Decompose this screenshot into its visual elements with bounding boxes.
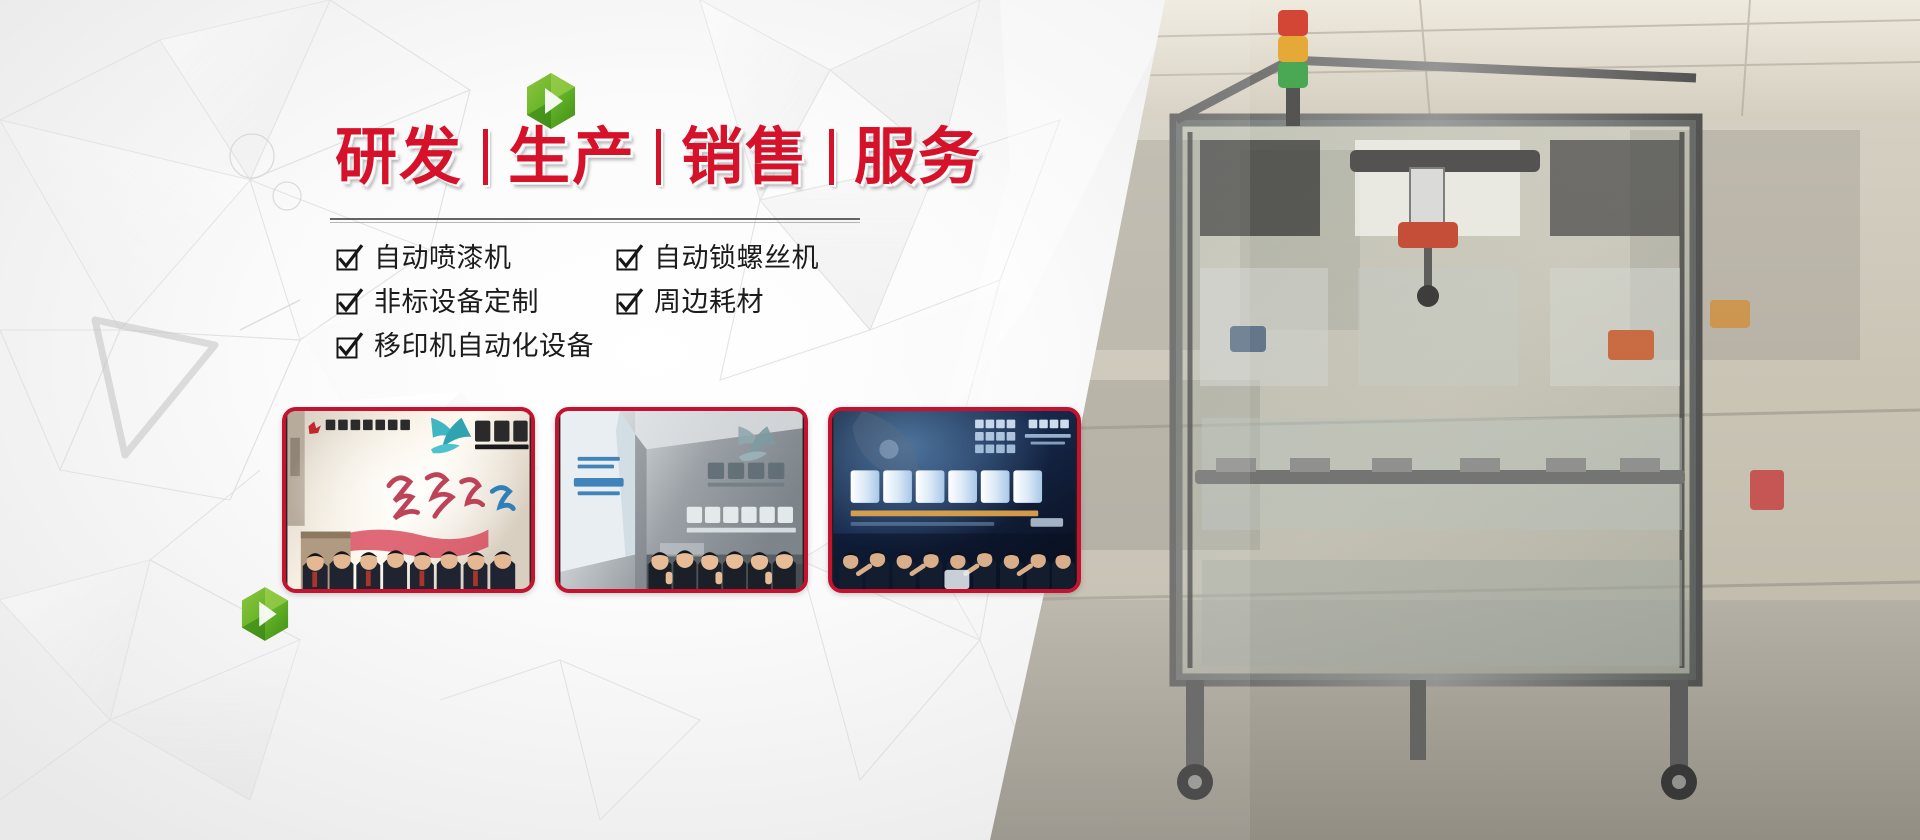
thumbnail-3-award: 国家高新技术企业 xyxy=(832,411,833,412)
thumbnail-2[interactable]: 德馨科技 汕头市德馨自动化科技有限公司 SHANTOU DEXIN AUTOMA… xyxy=(555,407,808,593)
headline: 研发 生产 销售 服务 xyxy=(326,126,991,188)
promo-banner: factory automation machine frame with st… xyxy=(0,0,1920,840)
thumbnail-3-headline-cn: 智能引领未来 xyxy=(832,411,833,412)
thumbnail-2-company-en: SHANTOU DEXIN AUTOMATION TECHNOLOGY CO.,… xyxy=(559,411,560,412)
headline-separator-2 xyxy=(656,129,661,185)
headline-word-2: 生产 xyxy=(499,126,645,188)
checkbox-checked-icon xyxy=(334,287,364,317)
feature-label: 自动锁螺丝机 xyxy=(654,245,819,272)
checkbox-checked-icon xyxy=(334,331,364,361)
checkbox-checked-icon xyxy=(614,243,644,273)
thumbnail-3-tags: 专业智造 · 智能制造 · 环保节能 xyxy=(832,411,833,412)
feature-list: 自动喷漆机 自动锁螺丝机 非标设备定制 xyxy=(334,236,894,368)
thumbnail-gallery: 國家高新技術企業 德馨科 DEXIN TECH 德馨缔造 xyxy=(282,407,1081,593)
feature-label: 非标设备定制 xyxy=(374,289,539,316)
headline-separator-1 xyxy=(483,129,488,185)
divider-line-primary xyxy=(330,218,860,220)
feature-item-5: 移印机自动化设备 xyxy=(334,324,894,368)
feature-label: 自动喷漆机 xyxy=(374,245,512,272)
thumbnail-2-brand-cn: 德馨科技 xyxy=(559,411,560,412)
feature-item-3: 非标设备定制 xyxy=(334,280,614,324)
thumbnail-1-brand-cn: 德馨科 xyxy=(286,411,287,412)
headline-word-1: 研发 xyxy=(326,126,472,188)
headline-divider xyxy=(330,218,860,223)
feature-label: 周边耗材 xyxy=(654,289,764,316)
feature-item-1: 自动喷漆机 xyxy=(334,236,614,280)
headline-word-3: 销售 xyxy=(672,126,818,188)
thumbnail-1[interactable]: 國家高新技術企業 德馨科 DEXIN TECH 德馨缔造 xyxy=(282,407,535,593)
thumbnail-3-award-sub: 汕头市德馨自动化科技有限公司 xyxy=(832,411,833,412)
thumbnail-3[interactable]: 智能引领未来 INTELLIGENCE LEADING FUTURE 专业智造 … xyxy=(828,407,1081,593)
thumbnail-2-company-cn: 汕头市德馨自动化科技有限公司 xyxy=(559,411,560,412)
feature-item-4: 周边耗材 xyxy=(614,280,894,324)
feature-item-2: 自动锁螺丝机 xyxy=(614,236,894,280)
headline-word-4: 服务 xyxy=(845,126,991,188)
green-hexagon-play-icon-secondary xyxy=(240,586,290,642)
thumbnail-1-badge: 國家高新技術企業 xyxy=(286,411,287,412)
headline-separator-3 xyxy=(829,129,834,185)
thumbnail-1-brand-en: DEXIN TECH xyxy=(286,411,287,412)
checkbox-checked-icon xyxy=(614,287,644,317)
thumbnail-3-headline-en: INTELLIGENCE LEADING FUTURE xyxy=(832,411,833,412)
thumbnail-3-footer: 中国广东 xyxy=(832,411,833,412)
divider-line-secondary xyxy=(330,222,860,223)
checkbox-checked-icon xyxy=(334,243,364,273)
feature-label: 移印机自动化设备 xyxy=(374,333,594,360)
thumbnail-1-slogan: 德馨缔造 xyxy=(286,411,287,412)
